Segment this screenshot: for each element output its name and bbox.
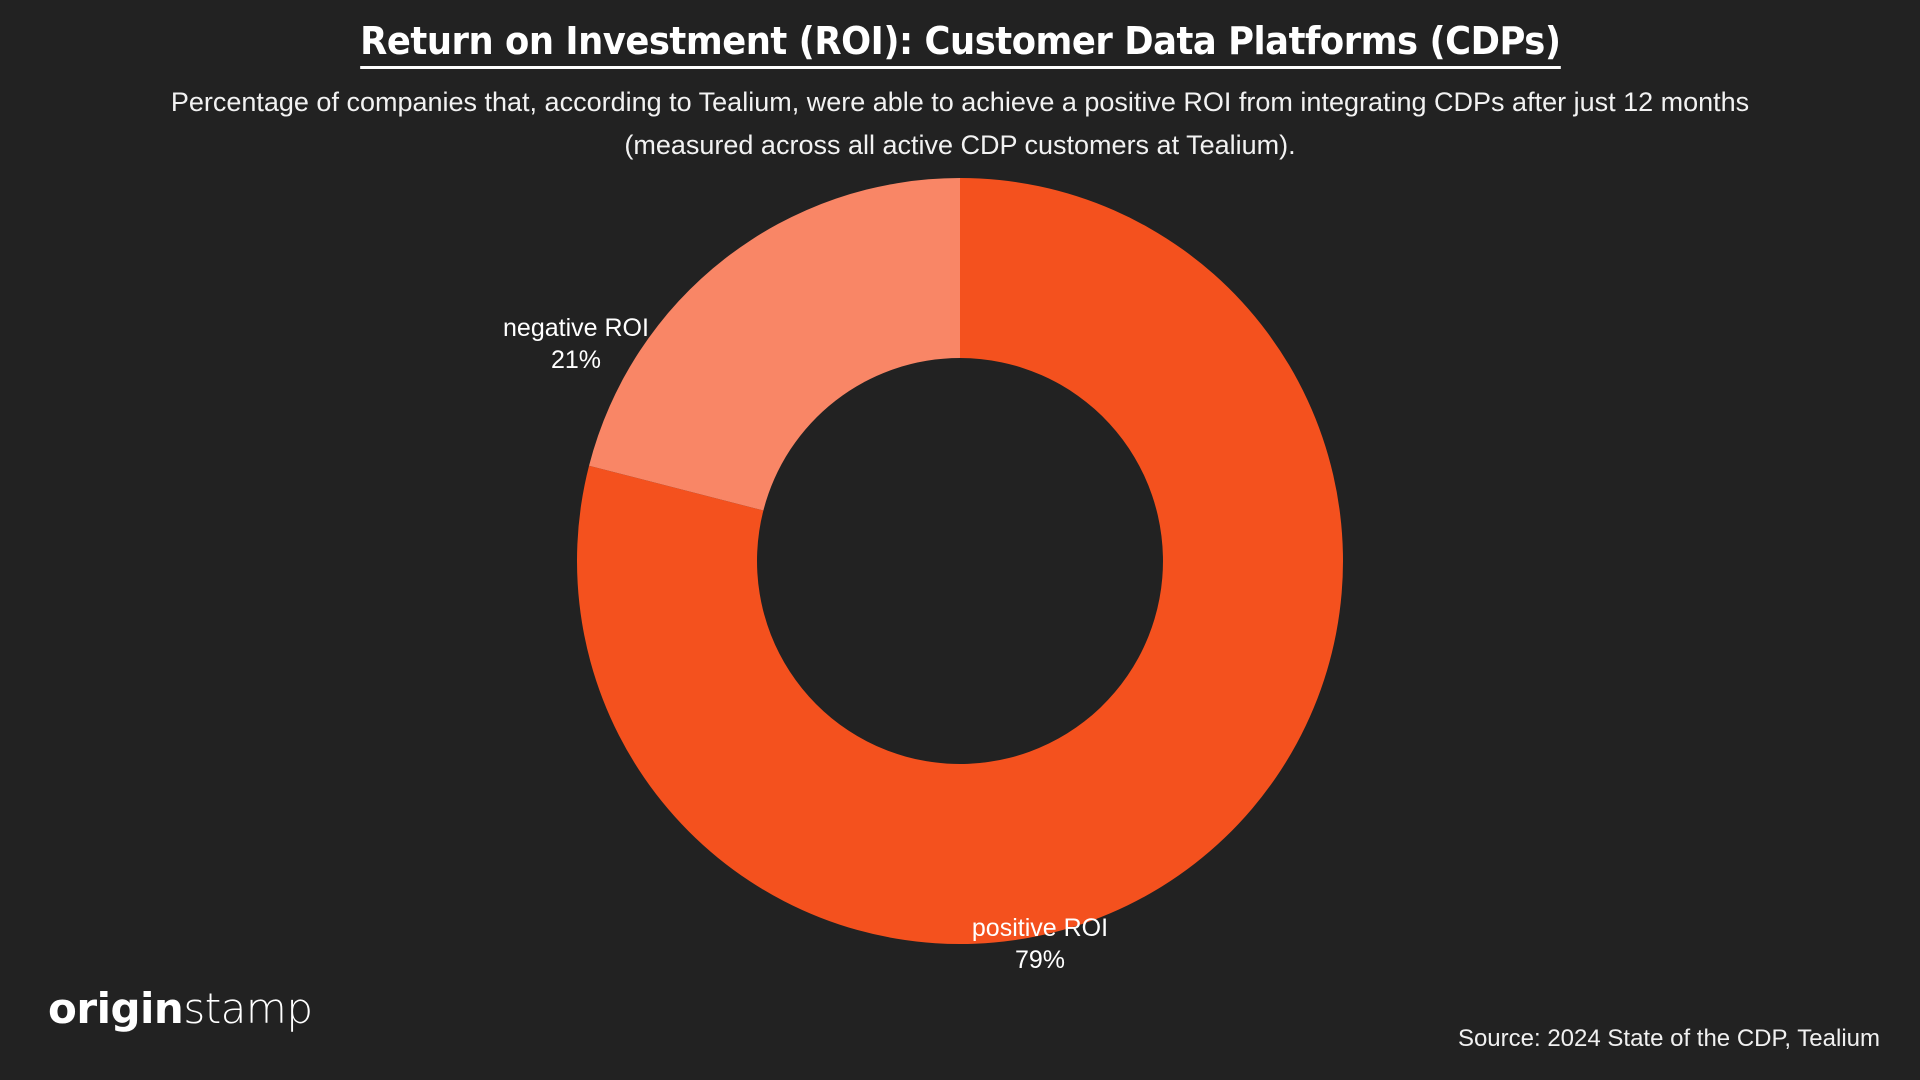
originstamp-logo: originstamp xyxy=(48,986,313,1032)
chart-canvas: Return on Investment (ROI): Customer Dat… xyxy=(0,0,1920,1080)
chart-plot-area: negative ROI 21% positive ROI 79% xyxy=(0,150,1920,990)
slice-label-positive-roi-name: positive ROI xyxy=(950,912,1130,944)
slice-label-negative-roi-value: 21% xyxy=(486,344,666,376)
slice-label-positive-roi-value: 79% xyxy=(950,944,1130,976)
donut-svg xyxy=(577,178,1343,944)
logo-text-origin: origin xyxy=(48,984,183,1033)
slice-label-positive-roi: positive ROI 79% xyxy=(950,912,1130,976)
slice-label-negative-roi: negative ROI 21% xyxy=(486,312,666,376)
chart-header: Return on Investment (ROI): Customer Dat… xyxy=(0,0,1920,167)
logo-text-stamp: stamp xyxy=(183,984,312,1033)
chart-subtitle-line-1: Percentage of companies that, according … xyxy=(171,87,1505,117)
source-attribution: Source: 2024 State of the CDP, Tealium xyxy=(1458,1024,1880,1054)
donut-chart xyxy=(577,178,1343,944)
slice-label-negative-roi-name: negative ROI xyxy=(486,312,666,344)
page-title: Return on Investment (ROI): Customer Dat… xyxy=(360,18,1560,69)
